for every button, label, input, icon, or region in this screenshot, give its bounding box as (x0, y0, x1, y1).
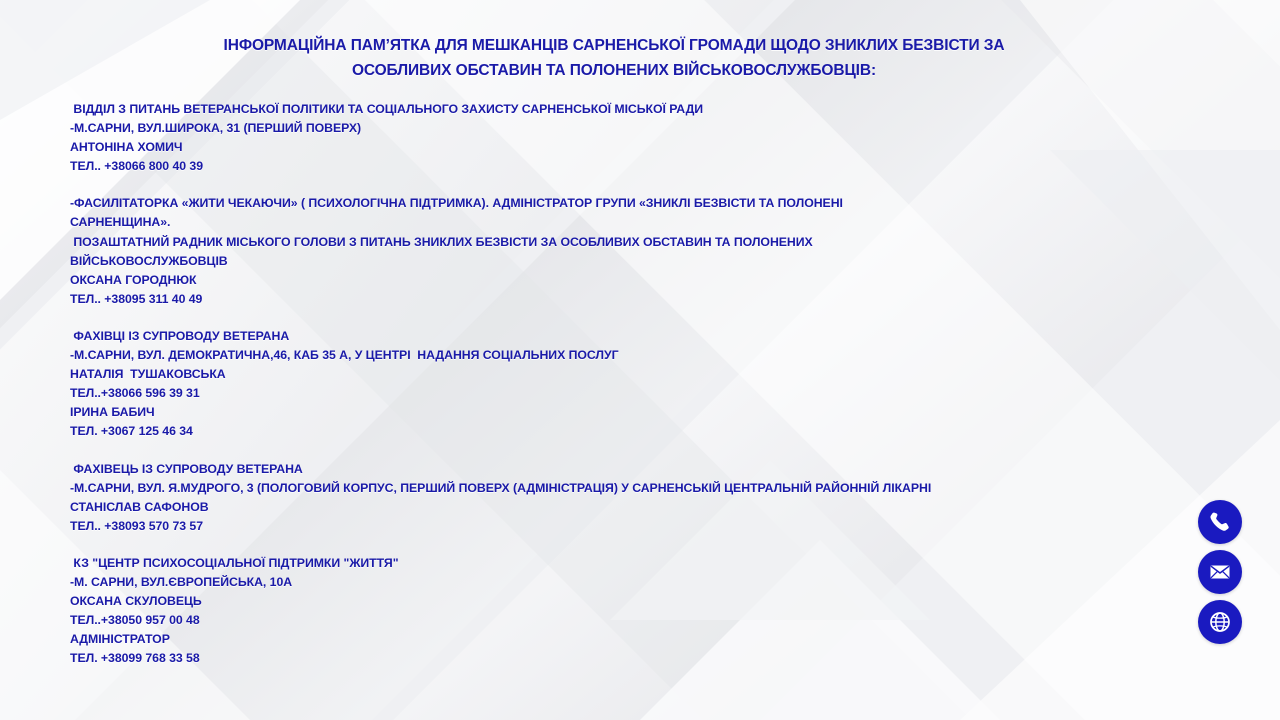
block-line: КЗ "ЦЕНТР ПСИХОСОЦІАЛЬНОЇ ПІДТРИМКИ "ЖИТ… (70, 554, 1190, 573)
block-line: САРНЕНЩИНА». (70, 213, 1190, 232)
email-icon-button[interactable] (1198, 550, 1242, 594)
block-line: -ФАСИЛІТАТОРКА «ЖИТИ ЧЕКАЮЧИ» ( ПСИХОЛОГ… (70, 194, 1190, 213)
block-line-phone: ТЕЛ. +38099 768 33 58 (70, 649, 1190, 668)
block-line: -М.САРНИ, ВУЛ.ШИРОКА, 31 (ПЕРШИЙ ПОВЕРХ) (70, 119, 1190, 138)
globe-icon (1208, 610, 1232, 634)
block-line: СТАНІСЛАВ САФОНОВ (70, 498, 1190, 517)
block-line: ФАХІВЕЦЬ ІЗ СУПРОВОДУ ВЕТЕРАНА (70, 460, 1190, 479)
block-line-phone: ТЕЛ.. +38093 570 73 57 (70, 517, 1190, 536)
block-line: НАТАЛІЯ ТУШАКОВСЬКА (70, 365, 1190, 384)
contact-block-psychosocial-support-center: КЗ "ЦЕНТР ПСИХОСОЦІАЛЬНОЇ ПІДТРИМКИ "ЖИТ… (70, 554, 1190, 669)
website-icon-button[interactable] (1198, 600, 1242, 644)
slide-canvas: ІНФОРМАЦІЙНА ПАМ’ЯТКА ДЛЯ МЕШКАНЦІВ САРН… (0, 0, 1280, 720)
page-title-line-1: ІНФОРМАЦІЙНА ПАМ’ЯТКА ДЛЯ МЕШКАНЦІВ САРН… (64, 33, 1164, 58)
phone-icon (1208, 510, 1232, 534)
block-line: ФАХІВЦІ ІЗ СУПРОВОДУ ВЕТЕРАНА (70, 327, 1190, 346)
contact-block-veteran-support-specialist-hospital: ФАХІВЕЦЬ ІЗ СУПРОВОДУ ВЕТЕРАНА -М.САРНИ,… (70, 460, 1190, 536)
contact-block-facilitator-psych-support: -ФАСИЛІТАТОРКА «ЖИТИ ЧЕКАЮЧИ» ( ПСИХОЛОГ… (70, 194, 1190, 309)
page-title: ІНФОРМАЦІЙНА ПАМ’ЯТКА ДЛЯ МЕШКАНЦІВ САРН… (64, 33, 1164, 83)
contact-icon-rail (1198, 500, 1242, 644)
block-line: ІРИНА БАБИЧ (70, 403, 1190, 422)
block-line: -М.САРНИ, ВУЛ. ДЕМОКРАТИЧНА,46, КАБ 35 А… (70, 346, 1190, 365)
block-line: -М. САРНИ, ВУЛ.ЄВРОПЕЙСЬКА, 10А (70, 573, 1190, 592)
block-line-phone: ТЕЛ..+38050 957 00 48 (70, 611, 1190, 630)
slide-content: ІНФОРМАЦІЙНА ПАМ’ЯТКА ДЛЯ МЕШКАНЦІВ САРН… (0, 0, 1280, 720)
block-line: ПОЗАШТАТНИЙ РАДНИК МІСЬКОГО ГОЛОВИ З ПИТ… (70, 233, 1190, 252)
block-line-phone: ТЕЛ..+38066 596 39 31 (70, 384, 1190, 403)
contact-block-veteran-support-specialists: ФАХІВЦІ ІЗ СУПРОВОДУ ВЕТЕРАНА -М.САРНИ, … (70, 327, 1190, 442)
block-line: ВІЙСЬКОВОСЛУЖБОВЦІВ (70, 252, 1190, 271)
block-line: АДМІНІСТРАТОР (70, 630, 1190, 649)
envelope-icon (1208, 560, 1232, 584)
block-line-phone: ТЕЛ.. +38095 311 40 49 (70, 290, 1190, 309)
contact-blocks: ВІДДІЛ З ПИТАНЬ ВЕТЕРАНСЬКОЇ ПОЛІТИКИ ТА… (70, 100, 1190, 686)
contact-block-veteran-policy-department: ВІДДІЛ З ПИТАНЬ ВЕТЕРАНСЬКОЇ ПОЛІТИКИ ТА… (70, 100, 1190, 176)
block-line-phone: ТЕЛ.. +38066 800 40 39 (70, 157, 1190, 176)
block-line: АНТОНІНА ХОМИЧ (70, 138, 1190, 157)
block-line: ВІДДІЛ З ПИТАНЬ ВЕТЕРАНСЬКОЇ ПОЛІТИКИ ТА… (70, 100, 1190, 119)
block-line: -М.САРНИ, ВУЛ. Я.МУДРОГО, 3 (ПОЛОГОВИЙ К… (70, 479, 1190, 498)
block-line: ОКСАНА ГОРОДНЮК (70, 271, 1190, 290)
page-title-line-2: ОСОБЛИВИХ ОБСТАВИН ТА ПОЛОНЕНИХ ВІЙСЬКОВ… (64, 58, 1164, 83)
phone-icon-button[interactable] (1198, 500, 1242, 544)
block-line: ОКСАНА СКУЛОВЕЦЬ (70, 592, 1190, 611)
block-line-phone: ТЕЛ. +3067 125 46 34 (70, 422, 1190, 441)
